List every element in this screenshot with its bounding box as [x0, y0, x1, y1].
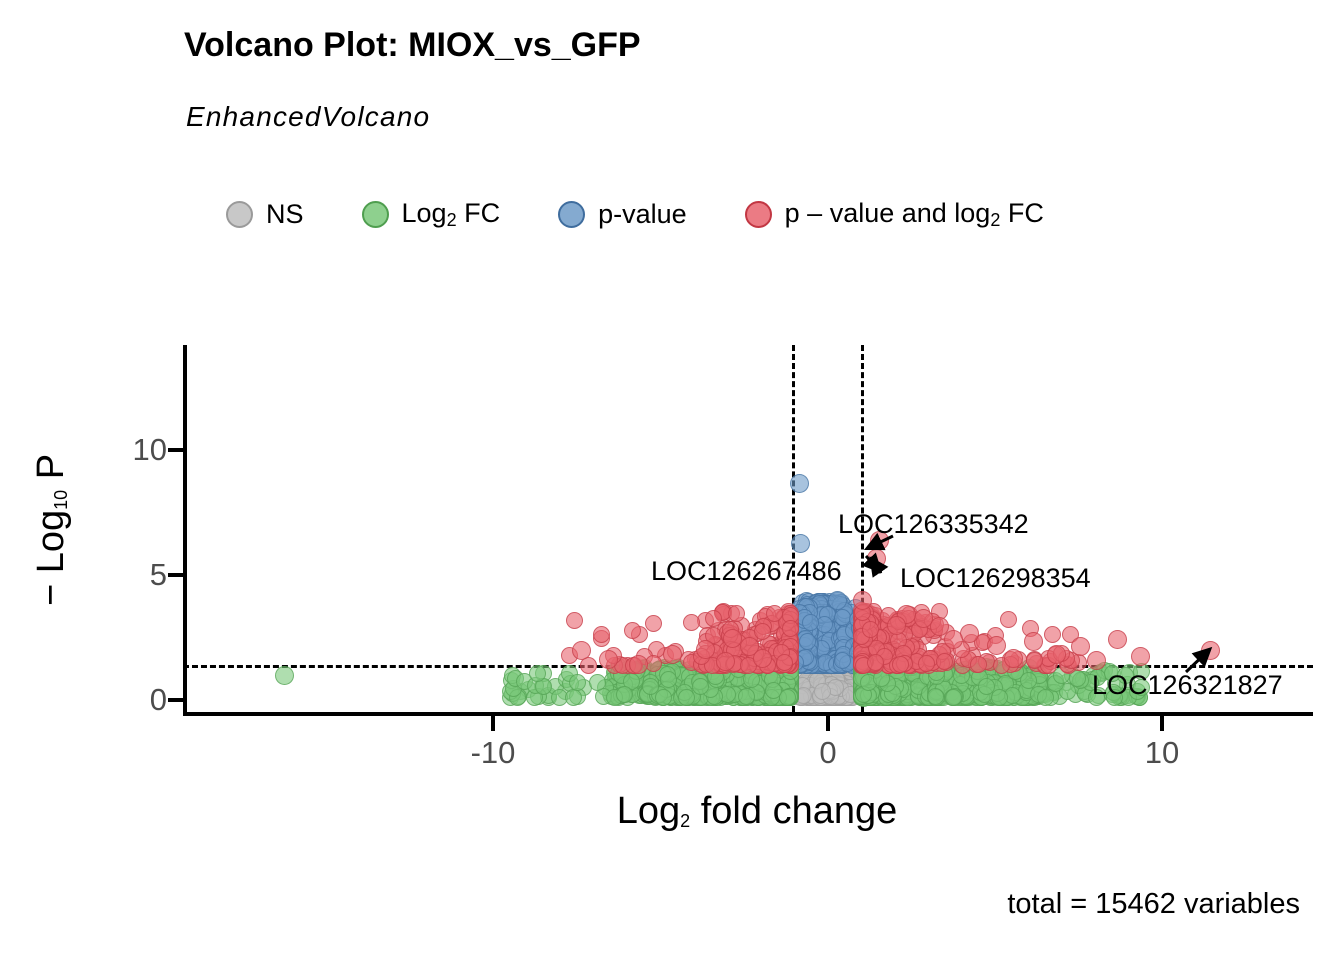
volcano-plot-figure: Volcano Plot: MIOX_vs_GFP EnhancedVolcan…: [0, 0, 1344, 960]
scatter-point: [799, 633, 816, 650]
legend-item-ns[interactable]: NS: [226, 199, 304, 230]
scatter-point: [814, 683, 831, 700]
legend-label-both: p – value and log2 FC: [785, 198, 1044, 231]
page-title: Volcano Plot: MIOX_vs_GFP: [184, 26, 641, 65]
y-tick-label-5: 5: [150, 557, 167, 593]
x-tick-0: [826, 716, 830, 731]
legend-swatch-both: [745, 201, 772, 228]
legend-label-ns: NS: [266, 199, 304, 230]
scatter-point: [834, 652, 851, 669]
plot-panel: 10 5 0 -10 0 10: [183, 345, 1313, 712]
legend-item-log2fc[interactable]: Log2 FC: [362, 198, 501, 231]
y-tick-5: [168, 573, 183, 577]
legend-item-both[interactable]: p – value and log2 FC: [745, 198, 1044, 231]
y-tick-0: [168, 698, 183, 702]
legend: NS Log2 FC p-value p – value and log2 FC: [226, 198, 1044, 231]
y-tick-10: [168, 448, 183, 452]
legend-swatch-ns: [226, 201, 253, 228]
legend-item-pvalue[interactable]: p-value: [558, 199, 687, 230]
legend-label-pvalue: p-value: [598, 199, 687, 230]
legend-swatch-pvalue: [558, 201, 585, 228]
x-tick-label-minus10: -10: [471, 735, 516, 771]
y-axis-line: [183, 345, 187, 712]
y-tick-label-10: 10: [133, 432, 167, 468]
x-tick-label-0: 0: [819, 735, 836, 771]
y-tick-label-0: 0: [150, 682, 167, 718]
legend-label-log2fc: Log2 FC: [402, 198, 501, 231]
page-subtitle: EnhancedVolcano: [186, 101, 430, 133]
x-tick-label-10: 10: [1145, 735, 1179, 771]
legend-swatch-log2fc: [362, 201, 389, 228]
x-axis-line: [183, 712, 1313, 716]
x-tick-10: [1160, 716, 1164, 731]
x-tick-minus10: [491, 716, 495, 731]
